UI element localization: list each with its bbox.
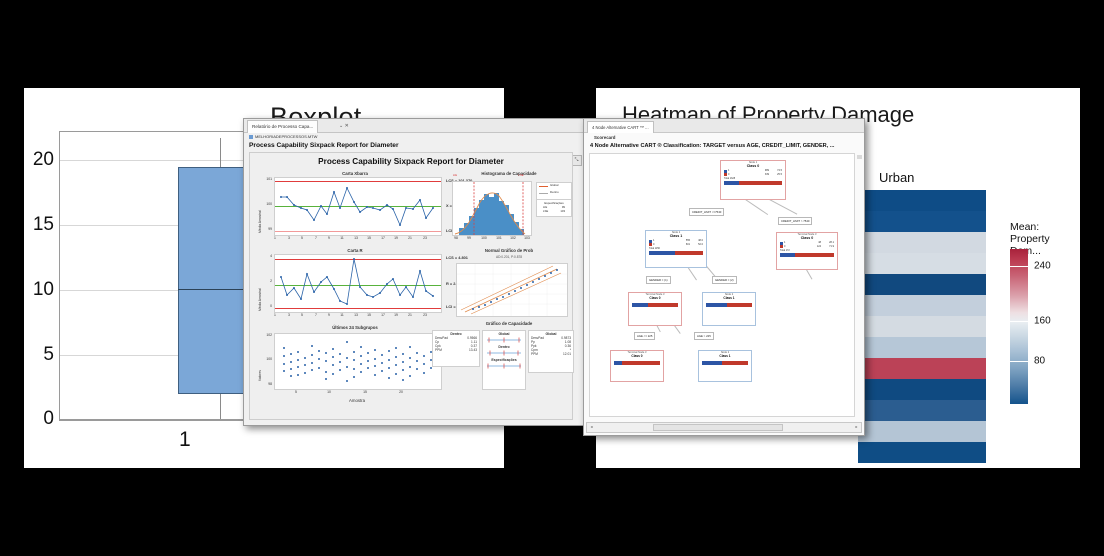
xbar-ytick: 100 <box>260 202 272 206</box>
mid-label-global: Global <box>483 331 525 336</box>
heatmap-cell[interactable] <box>858 358 986 379</box>
minitab-file-name: MELHORIADEPROCESSOS.MTW <box>255 134 317 139</box>
cart-node-5[interactable]: Node 2 Class 1 <box>702 292 756 326</box>
cart-split-label-age-le: AGE <= 225 <box>634 332 655 340</box>
r-chart-subtitle: Carta R <box>270 248 440 253</box>
cart-vertical-scrollbar[interactable] <box>856 153 863 417</box>
boxplot-ytick: 0 <box>43 408 54 430</box>
histogram-spec-box: Especificações LIE 99 LSE 103 <box>536 199 572 217</box>
node-stat-pct: 25.5 <box>770 173 782 177</box>
node-proportion-bar <box>614 361 660 365</box>
normal-plot-caption: AD:0.201, P:0.878 <box>450 255 568 259</box>
mid-label-spec: Especificações <box>483 357 525 362</box>
node-stat-pct: 52.0 <box>691 243 703 247</box>
histogram-lie-label: LIE <box>450 173 460 177</box>
r-xtick: 7 <box>312 313 320 317</box>
heatmap-column-label: Urban <box>879 170 914 185</box>
legend-tick: 160 <box>1034 316 1051 327</box>
node-proportion-bar <box>649 251 703 255</box>
heatmap-cell[interactable] <box>858 295 986 316</box>
subgroups-xtick: 20 <box>395 390 407 394</box>
r-xtick: 13 <box>352 313 360 317</box>
r-series <box>275 255 441 312</box>
subgroups-ytick: 102 <box>256 333 272 337</box>
mid-label-within: Dentro <box>483 344 525 349</box>
r-xtick: 9 <box>325 313 333 317</box>
r-ytick: 4 <box>260 254 272 258</box>
minitab-report-canvas: Process Capability Sixpack Report for Di… <box>249 152 573 420</box>
heatmap-cell[interactable] <box>858 274 986 295</box>
heatmap-color-legend: Mean: Property Dam... 240 160 80 <box>1010 221 1080 257</box>
subgroups-subtitle: Últimos 24 Subgrupos <box>270 325 440 330</box>
subgroups-xtick: 15 <box>359 390 371 394</box>
legend-color-bar <box>1010 249 1028 404</box>
legend-item-global: Global <box>550 183 558 187</box>
xbar-xtick: 23 <box>420 236 430 240</box>
cart-node-6[interactable]: Terminal Node 3 Class 0 <box>610 350 664 382</box>
xbar-chart-subtitle: Carta Xbarra <box>270 171 440 176</box>
node-stat-n: 339 <box>765 173 769 177</box>
cart-horizontal-scrollbar[interactable]: ◂ ▸ <box>586 422 862 433</box>
node-class: Class 1 <box>699 354 751 359</box>
r-xtick: 21 <box>406 313 414 317</box>
node-stat-n: 124 <box>817 245 821 249</box>
heatmap-cell[interactable] <box>858 211 986 232</box>
r-xtick: 5 <box>298 313 306 317</box>
histogram-xtick: 98 <box>450 236 462 240</box>
cart-split-label-left: CREDIT_LIMIT <=7540 <box>689 208 724 216</box>
r-xtick: 11 <box>338 313 346 317</box>
scroll-left-arrow[interactable]: ◂ <box>588 424 595 429</box>
legend-tick: 240 <box>1034 261 1051 272</box>
xbar-ytick: 101 <box>260 177 272 181</box>
xbar-ytick: 99 <box>260 227 272 231</box>
node-proportion-bar <box>780 253 834 257</box>
histogram-plot[interactable] <box>452 181 532 236</box>
heatmap-cell[interactable] <box>858 421 986 442</box>
heatmap-cell[interactable] <box>858 253 986 274</box>
worksheet-icon <box>249 135 253 139</box>
capability-overall-table: Global DesvPad0.9873 Pp1.08 Ppk0.36 Cpm*… <box>528 330 574 373</box>
xbar-xtick: 13 <box>352 236 360 240</box>
heatmap-grid <box>858 190 986 463</box>
histogram-subtitle: Histograma de Capacidade <box>450 171 568 176</box>
cart-window[interactable]: 4 Node Alternative CART ™ ... Scorecard … <box>583 118 865 436</box>
minitab-tab-controls[interactable]: ⌄ ✕ <box>339 120 349 132</box>
subgroups-xtick: 10 <box>323 390 335 394</box>
normal-plot-subtitle: Normal Gráfico de Prob <box>450 248 568 253</box>
heatmap-cell[interactable] <box>858 400 986 421</box>
cart-vertical-scroll-thumb[interactable] <box>857 155 862 159</box>
xbar-series <box>275 178 441 235</box>
histogram-xtick: 100 <box>477 236 491 240</box>
r-ytick: 2 <box>260 279 272 283</box>
cart-split-label-right: CREDIT_LIMIT > 7540 <box>778 217 812 225</box>
scroll-right-arrow[interactable]: ▸ <box>853 424 860 429</box>
node-proportion-bar <box>702 361 748 365</box>
heatmap-cell[interactable] <box>858 316 986 337</box>
node-total: Total 172 <box>780 249 834 253</box>
cart-node-2[interactable]: Node 2 Class 1 1 555 48.0 0 601 52.0 Tot… <box>645 230 707 268</box>
histogram-xtick: 103 <box>520 236 534 240</box>
subgroups-y-axis-label: Valores <box>258 370 262 381</box>
xbar-xtick: 15 <box>365 236 373 240</box>
node-class: Class 1 <box>703 296 755 301</box>
legend-title-line1: Mean: <box>1010 221 1080 233</box>
r-xtick: 17 <box>379 313 387 317</box>
node-proportion-bar <box>632 303 678 307</box>
subgroups-ytick: 100 <box>256 357 272 361</box>
histogram-xtick: 102 <box>506 236 520 240</box>
boxplot-ytick: 20 <box>33 149 54 171</box>
minitab-tab[interactable]: Relatório de Processo Capa... <box>247 120 318 133</box>
overall-val: 12.01 <box>563 352 571 356</box>
r-xtick: 15 <box>365 313 373 317</box>
boxplot-ytick: 15 <box>33 214 54 236</box>
r-xtick: 3 <box>285 313 293 317</box>
capability-subtitle: Gráfico de Capacidade <box>450 321 568 326</box>
minitab-report-heading: Process Capability Sixpack Report for Di… <box>249 142 399 149</box>
minitab-window[interactable]: Relatório de Processo Capa... ⌄ ✕ MELHOR… <box>243 118 585 426</box>
histogram-xtick: 101 <box>492 236 506 240</box>
cart-node-root[interactable]: Node 1 Class 0 1 989 74.5 0 339 25.5 Tot… <box>720 160 786 200</box>
cart-heading: 4 Node Alternative CART ® Classification… <box>590 143 835 149</box>
cart-split-label-gender-1: GENDER = (1) <box>646 276 671 284</box>
node-stat-n: 601 <box>686 243 690 247</box>
subgroups-points <box>275 334 441 389</box>
r-xtick: 1 <box>271 313 279 317</box>
minitab-report-title: Process Capability Sixpack Report for Di… <box>250 157 572 166</box>
normal-plot-points <box>457 264 567 316</box>
boxplot-ytick: 5 <box>43 344 54 366</box>
histogram-xtick: 99 <box>463 236 475 240</box>
heatmap-cell[interactable] <box>858 379 986 400</box>
capability-range-spec <box>484 363 524 369</box>
xbar-xtick: 5 <box>298 236 306 240</box>
heatmap-cell[interactable] <box>858 442 986 463</box>
r-xtick: 19 <box>392 313 400 317</box>
r-xtick: 23 <box>420 313 430 317</box>
legend-item-within: Dentro <box>550 190 559 194</box>
node-stat-pct: 71.9 <box>822 245 834 249</box>
subgroups-x-axis-label: Amostra <box>274 398 440 403</box>
normal-plot[interactable] <box>456 263 568 317</box>
node-proportion-bar <box>706 303 752 307</box>
capability-range-global <box>484 337 524 343</box>
minitab-file-row: MELHORIADEPROCESSOS.MTW <box>249 134 317 139</box>
cart-split-label-age-gt: AGE > 225 <box>694 332 714 340</box>
xbar-chart-plot[interactable] <box>274 177 442 236</box>
legend-tick: 80 <box>1034 356 1045 367</box>
capability-range-within <box>484 350 524 356</box>
r-ytick: 0 <box>260 304 272 308</box>
heatmap-cell[interactable] <box>858 190 986 211</box>
node-class: Class 0 <box>611 354 663 359</box>
xbar-xtick: 11 <box>338 236 346 240</box>
histogram-bars <box>453 182 531 235</box>
cart-horizontal-scroll-thumb[interactable] <box>653 424 783 431</box>
subgroups-xtick: 5 <box>291 390 301 394</box>
boxplot-upper-whisker <box>220 138 221 167</box>
boxplot-lower-whisker <box>220 392 221 419</box>
r-chart-plot[interactable] <box>274 254 442 313</box>
xbar-xtick: 1 <box>271 236 279 240</box>
boxplot-ytick: 10 <box>33 279 54 301</box>
xbar-xtick: 7 <box>312 236 320 240</box>
heatmap-cell[interactable] <box>858 337 986 358</box>
capability-within-table: Dentro DesvPad0.9566 Cp1.11 Cpk0.37 PPM1… <box>432 330 480 367</box>
xbar-xtick: 19 <box>392 236 400 240</box>
cart-tree-canvas[interactable]: Node 1 Class 0 1 989 74.5 0 339 25.5 Tot… <box>589 153 855 417</box>
spec-val: 103 <box>560 209 565 213</box>
spec-key: LSE <box>543 209 548 213</box>
xbar-xtick: 3 <box>285 236 293 240</box>
cart-tab[interactable]: 4 Node Alternative CART ™ ... <box>587 121 654 133</box>
cart-node-terminal-3[interactable]: Terminal Node 3 Class 0 1 48 28.1 0 124 … <box>776 232 838 270</box>
xbar-xtick: 17 <box>379 236 387 240</box>
subgroups-ytick: 98 <box>256 382 272 386</box>
subgroups-plot[interactable] <box>274 333 442 390</box>
within-key: PPM <box>435 348 442 352</box>
node-class: Class 0 <box>629 296 681 301</box>
node-total: Total 1328 <box>724 177 782 181</box>
histogram-lse-label: LSE <box>516 173 526 177</box>
heatmap-cell[interactable] <box>858 232 986 253</box>
overall-key: PPM <box>531 352 538 356</box>
boxplot-x-label: 1 <box>179 428 191 452</box>
cart-node-7[interactable]: Node 2 Class 1 <box>698 350 752 382</box>
cart-subheading: Scorecard <box>594 135 615 140</box>
xbar-xtick: 9 <box>325 236 333 240</box>
within-val: 13.43 <box>469 348 477 352</box>
node-total: Total 1156 <box>649 247 703 251</box>
xbar-xtick: 21 <box>406 236 414 240</box>
histogram-legend: Global Dentro <box>536 182 572 200</box>
cart-split-label-gender-2: GENDER = (2) <box>712 276 737 284</box>
node-proportion-bar <box>724 181 782 185</box>
cart-node-4[interactable]: Terminal Node 3 Class 0 <box>628 292 682 326</box>
capability-mid-panel: Global Dentro Especificações <box>482 330 526 390</box>
